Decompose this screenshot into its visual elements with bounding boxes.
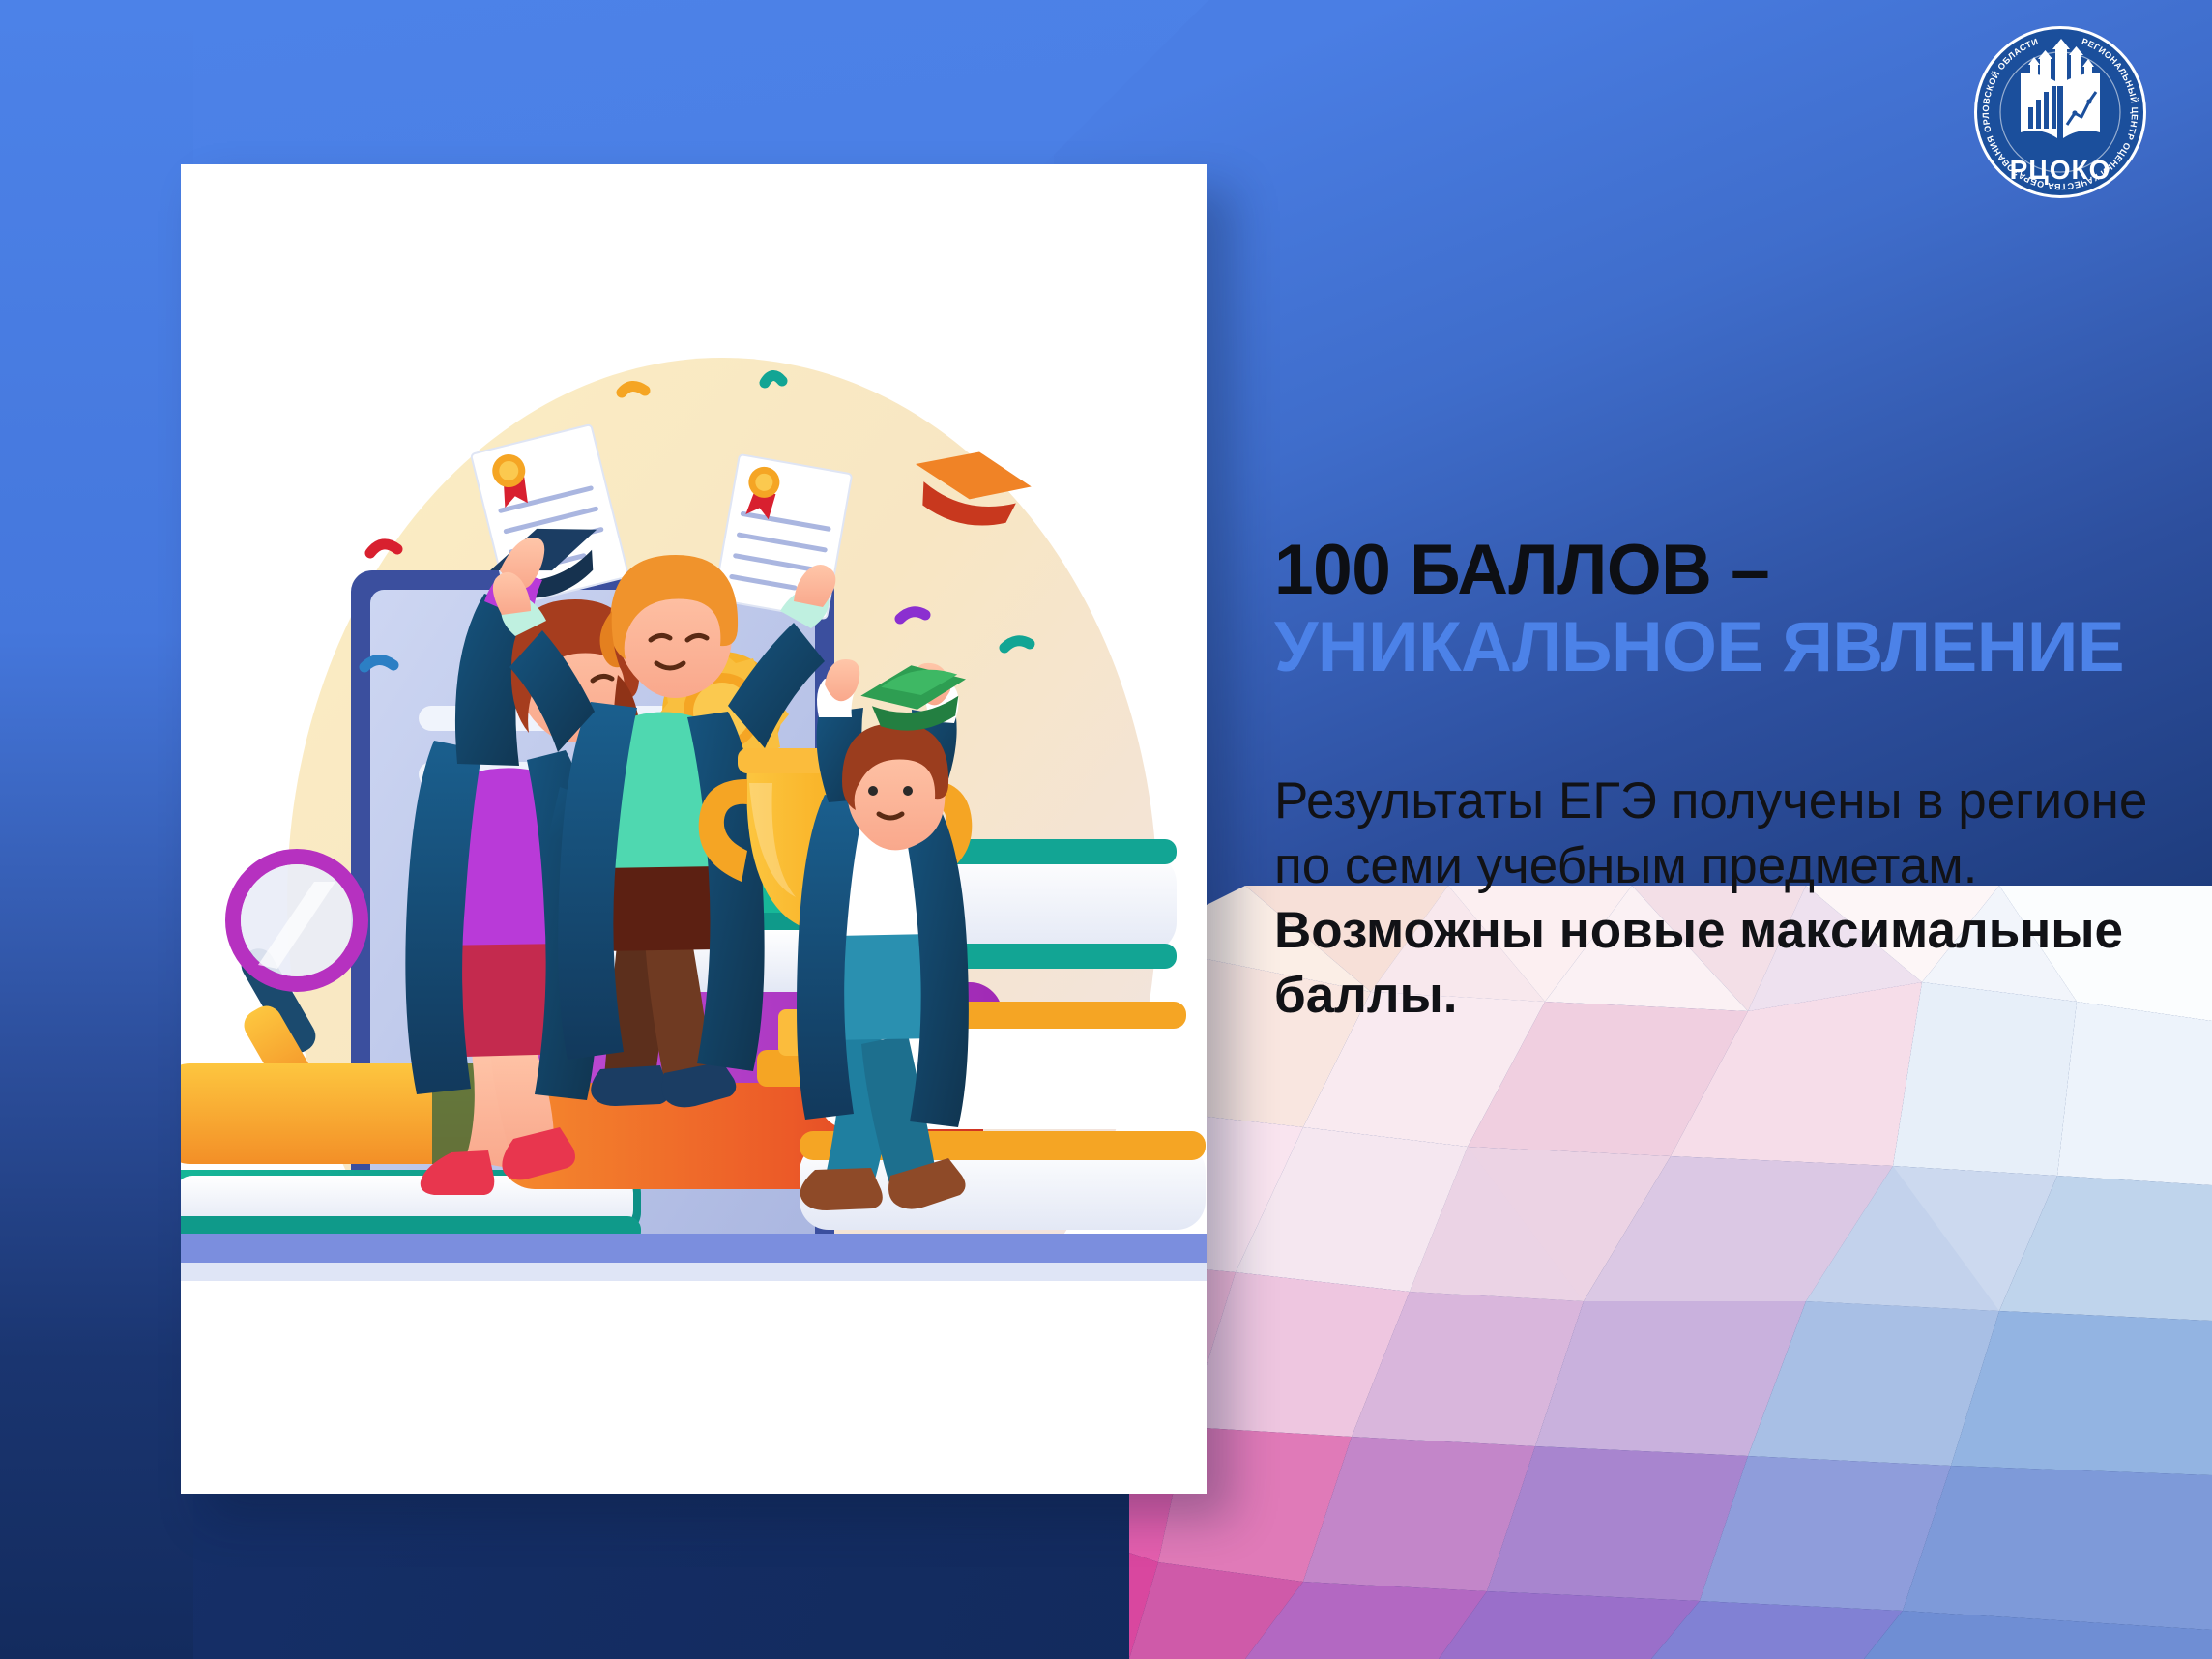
- body-paragraph: Результаты ЕГЭ получены в регионе по сем…: [1274, 769, 2164, 1029]
- body-text-regular: Результаты ЕГЭ получены в регионе по сем…: [1274, 772, 2147, 894]
- rcoko-logo: РЕГИОНАЛЬНЫЙ ЦЕНТР ОЦЕНКИ КАЧЕСТВА ОБРАЗ…: [1972, 24, 2148, 200]
- poster-card: [181, 164, 1207, 1494]
- logo-acronym: РЦОКО: [2010, 155, 2111, 185]
- text-column: 100 БАЛЛОВ – УНИКАЛЬНОЕ ЯВЛЕНИЕ Результа…: [1274, 532, 2173, 1029]
- page-title: 100 БАЛЛОВ – УНИКАЛЬНОЕ ЯВЛЕНИЕ: [1274, 532, 2173, 687]
- headline-line-1: 100 БАЛЛОВ –: [1274, 532, 2173, 609]
- body-text-bold: Возможны новые максимальные баллы.: [1274, 902, 2123, 1024]
- diploma-certificate-right: [714, 454, 853, 619]
- headline-line-2: УНИКАЛЬНОЕ ЯВЛЕНИЕ: [1274, 609, 2173, 686]
- illustration-graduates: [181, 164, 1207, 1281]
- slide-root: РЕГИОНАЛЬНЫЙ ЦЕНТР ОЦЕНКИ КАЧЕСТВА ОБРАЗ…: [0, 0, 2212, 1659]
- background-blue-left-strip: [0, 0, 193, 1659]
